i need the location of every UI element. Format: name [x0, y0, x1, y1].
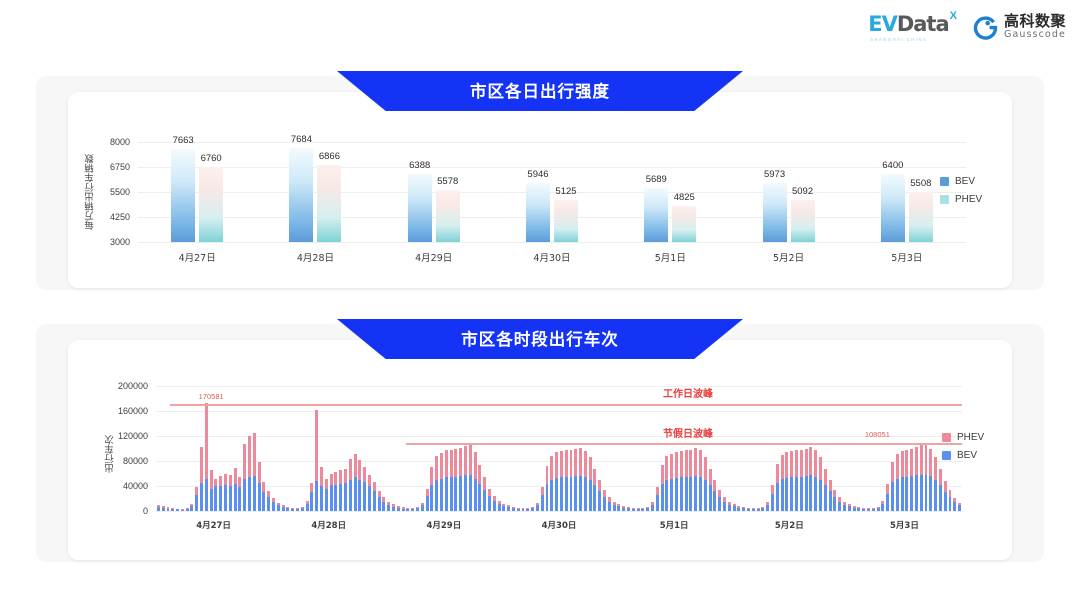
chart2-bar-segment-bev — [565, 477, 568, 511]
chart2-bar-segment-bev — [608, 502, 611, 511]
chart2-bar-segment-bev — [507, 507, 510, 511]
chart2-bar-segment-phev — [901, 451, 904, 477]
chart2-stacked-bar[interactable] — [920, 444, 923, 512]
chart2-bar-segment-phev — [253, 433, 256, 476]
chart2-legend-item-bev[interactable]: BEV — [942, 450, 984, 461]
chart2-bar-segment-bev — [306, 504, 309, 511]
chart2-bar-segment-phev — [464, 446, 467, 475]
chart2-y-tick: 120000 — [118, 431, 148, 441]
chart2-stacked-bar[interactable] — [805, 449, 808, 512]
chart2-stacked-bar[interactable] — [901, 451, 904, 511]
chart2-bar-segment-bev — [373, 491, 376, 511]
chart2-stacked-bar[interactable] — [905, 450, 908, 511]
section-1-title: 市区各日出行强度 — [470, 78, 610, 102]
chart2-stacked-bar[interactable] — [574, 449, 577, 512]
chart2-stacked-bar[interactable] — [915, 447, 918, 511]
chart1-bar-phev-6[interactable] — [909, 192, 933, 242]
chart1-bar-bev-3[interactable] — [526, 183, 550, 242]
chart2-stacked-bar[interactable] — [536, 503, 539, 511]
chart2-stacked-bar[interactable] — [694, 448, 697, 511]
chart2-stacked-bar[interactable] — [824, 469, 827, 512]
chart1-bar-bev-6[interactable] — [881, 174, 905, 242]
chart2-bar-segment-bev — [310, 492, 313, 511]
chart2-stacked-bar[interactable] — [709, 469, 712, 512]
chart2-bar-segment-phev — [656, 487, 659, 495]
chart2-stacked-bar[interactable] — [641, 508, 644, 511]
chart2-stacked-bar[interactable] — [747, 508, 750, 511]
chart2-weekday-peak-label: 工作日波峰 — [663, 385, 713, 400]
chart2-stacked-bar[interactable] — [478, 465, 481, 511]
chart2-stacked-bar[interactable] — [267, 491, 270, 511]
chart2-stacked-bar[interactable] — [785, 452, 788, 511]
chart2-bar-segment-bev — [459, 476, 462, 511]
chart2-stacked-bar[interactable] — [382, 497, 385, 511]
chart2-stacked-bar[interactable] — [406, 508, 409, 511]
chart2-stacked-bar[interactable] — [416, 507, 419, 511]
evdata-logo-ev-text: EV — [868, 12, 897, 36]
chart2-bar-segment-bev — [949, 497, 952, 511]
slide-root: EV Data X SHANGHAI CHINA 高科数聚 Gausscode … — [0, 0, 1080, 608]
chart2-stacked-bar[interactable] — [833, 490, 836, 511]
chart2-stacked-bar[interactable] — [440, 453, 443, 511]
chart2-bar-segment-bev — [430, 485, 433, 511]
chart1-bar-value-phev-2: 5578 — [437, 176, 458, 187]
chart2-y-tick: 200000 — [118, 381, 148, 391]
chart2-bar-segment-phev — [709, 469, 712, 485]
chart2-stacked-bar[interactable] — [632, 508, 635, 511]
chart1-x-tick-1: 4月28日 — [297, 250, 334, 264]
chart1-legend-item-bev[interactable]: BEV — [940, 176, 982, 187]
chart1-bar-phev-5[interactable] — [791, 200, 815, 242]
chart2-bar-segment-bev — [886, 494, 889, 512]
chart2-stacked-bar[interactable] — [493, 496, 496, 511]
chart2-stacked-bar[interactable] — [939, 469, 942, 512]
chart2-stacked-bar[interactable] — [392, 504, 395, 511]
chart2-bar-segment-phev — [824, 469, 827, 485]
chart2-stacked-bar[interactable] — [723, 497, 726, 511]
chart2-bar-segment-bev — [210, 489, 213, 512]
chart2-bar-segment-bev — [248, 477, 251, 511]
chart2-stacked-bar[interactable] — [238, 477, 241, 511]
chart2-stacked-bar[interactable] — [742, 507, 745, 511]
chart2-stacked-bar[interactable] — [507, 505, 510, 511]
chart2-bar-segment-phev — [675, 452, 678, 478]
chart2-stacked-bar[interactable] — [608, 497, 611, 511]
chart2-stacked-bar[interactable] — [953, 498, 956, 511]
chart2-stacked-bar[interactable] — [689, 450, 692, 511]
chart2-stacked-bar[interactable] — [483, 477, 486, 511]
chart2-bar-segment-bev — [939, 485, 942, 511]
chart2-stacked-bar[interactable] — [186, 508, 189, 511]
chart2-stacked-bar[interactable] — [560, 451, 563, 511]
chart2-stacked-bar[interactable] — [243, 444, 246, 511]
section-2-title-ribbon: 市区各时段出行车次 — [337, 319, 743, 359]
chart2-stacked-bar[interactable] — [459, 448, 462, 511]
chart2-bar-segment-phev — [426, 489, 429, 497]
chart2-stacked-bar[interactable] — [934, 457, 937, 511]
chart2-stacked-bar[interactable] — [670, 454, 673, 512]
chart2-stacked-bar[interactable] — [733, 504, 736, 511]
chart2-stacked-bar[interactable] — [450, 450, 453, 511]
chart2-bar-segment-phev — [450, 450, 453, 477]
chart1-bar-bev-0[interactable] — [171, 149, 195, 242]
section-2-title: 市区各时段出行车次 — [461, 326, 619, 350]
chart2-stacked-bar[interactable] — [320, 467, 323, 511]
chart2-stacked-bar[interactable] — [378, 491, 381, 511]
chart2-stacked-bar[interactable] — [210, 470, 213, 511]
chart2-stacked-bar[interactable] — [358, 460, 361, 511]
chart2-stacked-bar[interactable] — [929, 449, 932, 512]
chart2-stacked-bar[interactable] — [157, 505, 160, 511]
chart2-stacked-bar[interactable] — [550, 456, 553, 511]
chart2-bar-segment-bev — [613, 505, 616, 511]
chart2-stacked-bar[interactable] — [584, 451, 587, 511]
chart2-stacked-bar[interactable] — [646, 507, 649, 511]
chart2-legend-swatch-bev — [942, 451, 951, 460]
chart2-stacked-bar[interactable] — [603, 490, 606, 511]
chart2-stacked-bar[interactable] — [282, 505, 285, 511]
chart2-bar-segment-phev — [713, 480, 716, 491]
chart2-stacked-bar[interactable] — [958, 503, 961, 511]
chart2-bar-segment-bev — [593, 485, 596, 511]
chart2-stacked-bar[interactable] — [819, 457, 822, 511]
chart2-stacked-bar[interactable] — [397, 506, 400, 511]
chart2-stacked-bar[interactable] — [454, 449, 457, 511]
chart2-stacked-bar[interactable] — [162, 506, 165, 511]
chart2-bar-segment-phev — [584, 451, 587, 477]
chart2-stacked-bar[interactable] — [771, 485, 774, 511]
chart2-bar-segment-phev — [483, 477, 486, 490]
chart2-stacked-bar[interactable] — [910, 449, 913, 512]
chart2-stacked-bar[interactable] — [680, 451, 683, 511]
chart2-bar-segment-bev — [402, 509, 405, 511]
chart2-bar-segment-bev — [915, 475, 918, 511]
chart2-stacked-bar[interactable] — [622, 506, 625, 511]
chart2-bar-segment-phev — [330, 474, 333, 486]
chart2-stacked-bar[interactable] — [229, 475, 232, 511]
chart2-stacked-bar[interactable] — [310, 483, 313, 511]
chart2-stacked-bar[interactable] — [224, 474, 227, 511]
chart2-x-tick-4: 5月1日 — [660, 519, 689, 531]
chart2-stacked-bar[interactable] — [675, 452, 678, 511]
chart2-bar-segment-bev — [426, 496, 429, 511]
chart2-bar-segment-bev — [277, 505, 280, 511]
chart2-bar-segment-phev — [929, 449, 932, 477]
chart1-bar-value-phev-3: 5125 — [555, 186, 576, 197]
chart2-stacked-bar[interactable] — [262, 482, 265, 511]
chart2-stacked-bar[interactable] — [728, 502, 731, 511]
chart2-bar-segment-bev — [397, 508, 400, 511]
chart2-stacked-bar[interactable] — [253, 433, 256, 511]
chart2-bar-segment-bev — [742, 508, 745, 511]
chart2-stacked-bar[interactable] — [488, 489, 491, 512]
chart2-stacked-bar[interactable] — [886, 484, 889, 511]
chart2-stacked-bar[interactable] — [363, 467, 366, 511]
chart2-stacked-bar[interactable] — [181, 509, 184, 511]
chart2-stacked-bar[interactable] — [373, 482, 376, 511]
chart2-stacked-bar[interactable] — [339, 470, 342, 511]
chart2-stacked-bar[interactable] — [190, 504, 193, 512]
chart2-stacked-bar[interactable] — [234, 468, 237, 511]
chart2-stacked-bar[interactable] — [512, 507, 515, 511]
chart2-bar-segment-phev — [315, 410, 318, 481]
chart2-bar-segment-bev — [709, 485, 712, 511]
chart2-stacked-bar[interactable] — [761, 507, 764, 511]
chart2-bar-segment-phev — [574, 449, 577, 477]
chart1-bar-bev-4[interactable] — [644, 188, 668, 242]
chart2-stacked-bar[interactable] — [272, 498, 275, 511]
chart2-stacked-bar[interactable] — [214, 479, 217, 512]
chart2-stacked-bar[interactable] — [248, 436, 251, 511]
chart2-stacked-bar[interactable] — [589, 457, 592, 511]
chart2-stacked-bar[interactable] — [546, 466, 549, 511]
chart2-stacked-bar[interactable] — [776, 464, 779, 512]
chart2-stacked-bar[interactable] — [555, 452, 558, 511]
chart2-stacked-bar[interactable] — [167, 507, 170, 511]
chart1-gridline — [138, 167, 966, 168]
chart2-bar-segment-bev — [761, 508, 764, 511]
chart2-bar-segment-bev — [411, 509, 414, 511]
chart2-bar-segment-phev — [570, 450, 573, 477]
chart1-bar-phev-1[interactable] — [317, 165, 341, 242]
chart2-bar-segment-phev — [325, 479, 328, 488]
evdata-logo-x-icon: X — [950, 10, 957, 22]
chart2-stacked-bar[interactable] — [469, 443, 472, 511]
chart2-stacked-bar[interactable] — [296, 508, 299, 511]
chart2-bar-segment-bev — [349, 480, 352, 511]
chart2-bar-segment-bev — [522, 509, 525, 511]
chart2-stacked-bar[interactable] — [464, 446, 467, 511]
chart2-stacked-bar[interactable] — [325, 479, 328, 511]
chart2-bar-segment-bev — [445, 477, 448, 511]
chart2-stacked-bar[interactable] — [330, 474, 333, 512]
chart2-bar-segment-bev — [809, 475, 812, 511]
chart2-bar-segment-phev — [430, 467, 433, 485]
chart2-legend-item-phev[interactable]: PHEV — [942, 432, 984, 443]
chart2-stacked-bar[interactable] — [699, 450, 702, 511]
chart1-bar-phev-4[interactable] — [672, 206, 696, 243]
chart2-bar-segment-phev — [934, 457, 937, 480]
chart2-stacked-bar[interactable] — [517, 508, 520, 511]
chart2-bar-segment-phev — [546, 466, 549, 484]
chart2-stacked-bar[interactable] — [402, 507, 405, 511]
chart2-stacked-bar[interactable] — [944, 481, 947, 511]
chart2-bar-segment-bev — [272, 502, 275, 511]
chart2-bar-segment-bev — [637, 509, 640, 511]
chart2-stacked-bar[interactable] — [349, 459, 352, 511]
chart1-legend-item-phev[interactable]: PHEV — [940, 194, 982, 205]
chart1-bar-phev-0[interactable] — [199, 167, 223, 242]
chart2-bar-segment-phev — [565, 450, 568, 477]
chart2-stacked-bar[interactable] — [426, 489, 429, 512]
chart2-stacked-bar[interactable] — [867, 508, 870, 511]
chart2-stacked-bar[interactable] — [613, 502, 616, 511]
chart2-stacked-bar[interactable] — [200, 447, 203, 511]
chart1-bar-phev-3[interactable] — [554, 200, 578, 243]
chart2-bar-segment-phev — [694, 448, 697, 476]
chart2-stacked-bar[interactable] — [258, 462, 261, 511]
chart1-bar-bev-2[interactable] — [408, 174, 432, 242]
chart2-bar-segment-bev — [478, 484, 481, 512]
chart2-bar-segment-phev — [454, 449, 457, 477]
chart2-bar-segment-bev — [181, 510, 184, 512]
chart2-stacked-bar[interactable] — [445, 450, 448, 511]
gausscode-logo-en: Gausscode — [1004, 30, 1066, 40]
chart2-stacked-bar[interactable] — [795, 450, 798, 511]
chart2-stacked-bar[interactable] — [368, 475, 371, 511]
chart2-stacked-bar[interactable] — [781, 455, 784, 511]
chart2-stacked-bar[interactable] — [891, 462, 894, 511]
chart2-stacked-bar[interactable] — [315, 410, 318, 511]
chart2-bar-segment-bev — [656, 495, 659, 511]
chart2-stacked-bar[interactable] — [570, 450, 573, 511]
chart2-y-tick: 80000 — [123, 456, 148, 466]
chart2-bar-segment-phev — [334, 472, 337, 485]
chart2-stacked-bar[interactable] — [498, 501, 501, 511]
chart1-bar-value-bev-5: 5973 — [764, 169, 785, 180]
chart2-stacked-bar[interactable] — [829, 480, 832, 511]
chart2-stacked-bar[interactable] — [704, 457, 707, 511]
chart2-bar-segment-bev — [622, 508, 625, 511]
chart2-stacked-bar[interactable] — [291, 508, 294, 511]
chart1-bar-bev-5[interactable] — [763, 183, 787, 242]
chart2-stacked-bar[interactable] — [949, 490, 952, 511]
chart2-stacked-bar[interactable] — [685, 450, 688, 511]
chart2-stacked-bar[interactable] — [502, 504, 505, 512]
chart2-bar-segment-phev — [354, 454, 357, 478]
chart2-stacked-bar[interactable] — [718, 490, 721, 511]
chart2-stacked-bar[interactable] — [522, 508, 525, 511]
chart1-gridline — [138, 192, 966, 193]
chart2-stacked-bar[interactable] — [387, 502, 390, 511]
chart2-stacked-bar[interactable] — [838, 497, 841, 511]
chart2-bar-segment-bev — [704, 480, 707, 511]
chart2-stacked-bar[interactable] — [526, 508, 529, 511]
chart2-stacked-bar[interactable] — [896, 454, 899, 512]
chart2-stacked-bar[interactable] — [598, 480, 601, 511]
chart2-stacked-bar[interactable] — [195, 487, 198, 511]
header-logos: EV Data X SHANGHAI CHINA 高科数聚 Gausscode — [868, 12, 1066, 42]
chart2-stacked-bar[interactable] — [752, 508, 755, 511]
chart2-stacked-bar[interactable] — [809, 447, 812, 511]
chart1-legend-swatch-bev — [940, 177, 949, 186]
gausscode-logo: 高科数聚 Gausscode — [973, 14, 1066, 40]
chart2-stacked-bar[interactable] — [713, 480, 716, 511]
chart2-bar-segment-phev — [262, 482, 265, 491]
chart2-bar-segment-bev — [829, 491, 832, 511]
chart2-stacked-bar[interactable] — [665, 456, 668, 511]
chart2-stacked-bar[interactable] — [531, 507, 534, 511]
gausscode-logo-text: 高科数聚 Gausscode — [1004, 14, 1066, 40]
chart2-bar-segment-bev — [853, 508, 856, 512]
chart2-bar-segment-bev — [757, 509, 760, 511]
chart2-stacked-bar[interactable] — [474, 452, 477, 511]
chart2-stacked-bar[interactable] — [857, 507, 860, 511]
chart2-bar-segment-bev — [512, 508, 515, 511]
chart2-stacked-bar[interactable] — [843, 502, 846, 511]
chart2-legend: PHEV BEV — [942, 432, 984, 461]
chart2-stacked-bar[interactable] — [877, 507, 880, 511]
chart2-bar-segment-bev — [905, 477, 908, 511]
chart2-stacked-bar[interactable] — [286, 507, 289, 511]
chart2-stacked-bar[interactable] — [862, 508, 865, 511]
chart2-stacked-bar[interactable] — [651, 502, 654, 511]
chart2-stacked-bar[interactable] — [853, 506, 856, 511]
chart2-bar-segment-bev — [190, 506, 193, 511]
chart2-bar-segment-bev — [253, 476, 256, 511]
chart2-gridline — [156, 511, 962, 512]
chart2-stacked-bar[interactable] — [790, 451, 793, 511]
chart2-stacked-bar[interactable] — [306, 501, 309, 511]
chart2-stacked-bar[interactable] — [579, 448, 582, 511]
chart2-bar-segment-bev — [670, 479, 673, 512]
chart2-stacked-bar[interactable] — [541, 487, 544, 511]
chart2-bar-segment-bev — [238, 487, 241, 511]
chart2-x-tick-0: 4月27日 — [196, 519, 231, 531]
chart2-stacked-bar[interactable] — [872, 508, 875, 511]
chart2-stacked-bar[interactable] — [766, 502, 769, 511]
chart2-bar-segment-bev — [896, 479, 899, 512]
chart2-stacked-bar[interactable] — [848, 504, 851, 511]
chart2-stacked-bar[interactable] — [593, 469, 596, 512]
chart2-stacked-bar[interactable] — [205, 403, 208, 511]
chart2-bar-segment-bev — [541, 495, 544, 511]
chart2-bar-segment-bev — [358, 480, 361, 511]
chart2-stacked-bar[interactable] — [814, 450, 817, 511]
daily-travel-intensity-chart: 每万辆出行车辆数30004250550067508000766367604月27… — [86, 120, 986, 270]
chart1-gridline — [138, 242, 966, 243]
chart2-stacked-bar[interactable] — [925, 445, 928, 511]
chart1-bar-bev-1[interactable] — [289, 148, 313, 242]
chart2-gridline — [156, 411, 962, 412]
chart2-bar-segment-bev — [334, 485, 337, 511]
chart2-bar-segment-bev — [891, 482, 894, 511]
chart2-stacked-bar[interactable] — [881, 501, 884, 511]
chart2-stacked-bar[interactable] — [656, 487, 659, 511]
chart2-stacked-bar[interactable] — [565, 450, 568, 511]
chart2-stacked-bar[interactable] — [637, 508, 640, 511]
chart2-stacked-bar[interactable] — [617, 504, 620, 511]
chart2-stacked-bar[interactable] — [737, 506, 740, 511]
chart2-stacked-bar[interactable] — [219, 476, 222, 511]
chart1-bar-phev-2[interactable] — [436, 190, 460, 242]
chart2-stacked-bar[interactable] — [757, 508, 760, 511]
chart2-stacked-bar[interactable] — [800, 450, 803, 511]
chart2-stacked-bar[interactable] — [354, 454, 357, 512]
chart2-stacked-bar[interactable] — [277, 503, 280, 511]
chart2-bar-segment-bev — [790, 477, 793, 511]
chart2-stacked-bar[interactable] — [176, 509, 179, 511]
chart2-stacked-bar[interactable] — [411, 508, 414, 511]
chart2-stacked-bar[interactable] — [430, 467, 433, 511]
chart2-bar-segment-phev — [214, 479, 217, 487]
chart2-bar-segment-bev — [771, 494, 774, 511]
chart2-bar-segment-bev — [339, 484, 342, 512]
chart2-bar-segment-bev — [632, 509, 635, 511]
chart2-stacked-bar[interactable] — [344, 469, 347, 512]
chart2-bar-segment-phev — [704, 457, 707, 480]
chart2-stacked-bar[interactable] — [301, 507, 304, 511]
chart2-bar-segment-phev — [593, 469, 596, 485]
chart2-stacked-bar[interactable] — [435, 456, 438, 511]
chart2-stacked-bar[interactable] — [661, 465, 664, 511]
chart2-stacked-bar[interactable] — [171, 508, 174, 511]
chart2-stacked-bar[interactable] — [627, 507, 630, 511]
chart2-stacked-bar[interactable] — [421, 503, 424, 511]
chart2-stacked-bar[interactable] — [334, 472, 337, 511]
chart2-bar-segment-bev — [579, 476, 582, 511]
chart2-bar-segment-bev — [646, 508, 649, 511]
